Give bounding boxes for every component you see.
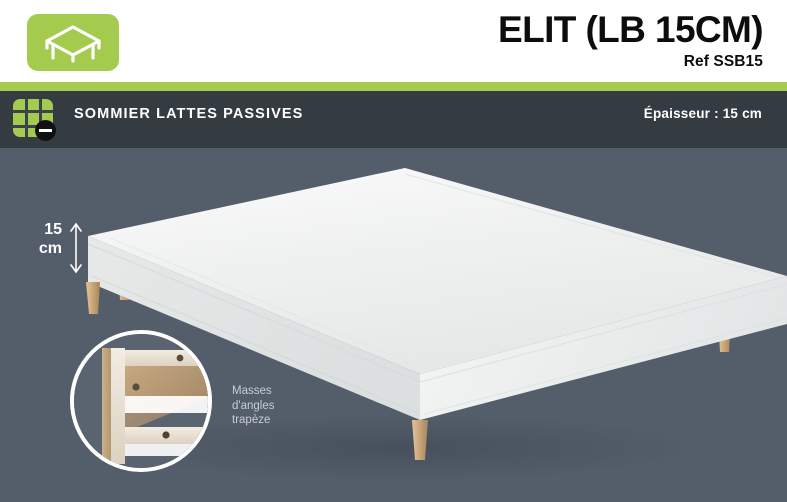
corner-brace-photo <box>70 330 212 472</box>
dimension-unit: cm <box>22 239 62 258</box>
product-image-stage: 15 cm <box>0 148 787 502</box>
title-block: ELIT (LB 15CM) Ref SSB15 <box>498 8 763 71</box>
detail-caption-line-2: d'angles <box>232 399 274 414</box>
minus-circle-icon <box>35 120 56 141</box>
slat-line <box>25 99 28 137</box>
product-reference: Ref SSB15 <box>498 53 763 71</box>
green-divider <box>0 82 787 91</box>
category-bar: SOMMIER LATTES PASSIVES Épaisseur : 15 c… <box>0 91 787 148</box>
page-title: ELIT (LB 15CM) <box>498 8 763 52</box>
header: ELIT (LB 15CM) Ref SSB15 <box>0 0 787 82</box>
detail-caption-line-1: Masses <box>232 384 274 399</box>
bed-base-icon <box>27 14 119 71</box>
slats-grid-icon <box>13 99 57 141</box>
detail-caption: Masses d'angles trapèze <box>232 384 274 428</box>
double-arrow-vertical-icon <box>66 220 86 276</box>
detail-caption-line-3: trapèze <box>232 413 274 428</box>
category-label: SOMMIER LATTES PASSIVES <box>74 106 303 122</box>
slat-line <box>13 110 53 113</box>
dimension-value: 15 <box>22 220 62 239</box>
product-spec-sheet: ELIT (LB 15CM) Ref SSB15 SOMMIER LATTES … <box>0 0 787 502</box>
thickness-dimension-annotation: 15 cm <box>22 220 92 282</box>
thickness-label: Épaisseur : 15 cm <box>644 106 762 121</box>
